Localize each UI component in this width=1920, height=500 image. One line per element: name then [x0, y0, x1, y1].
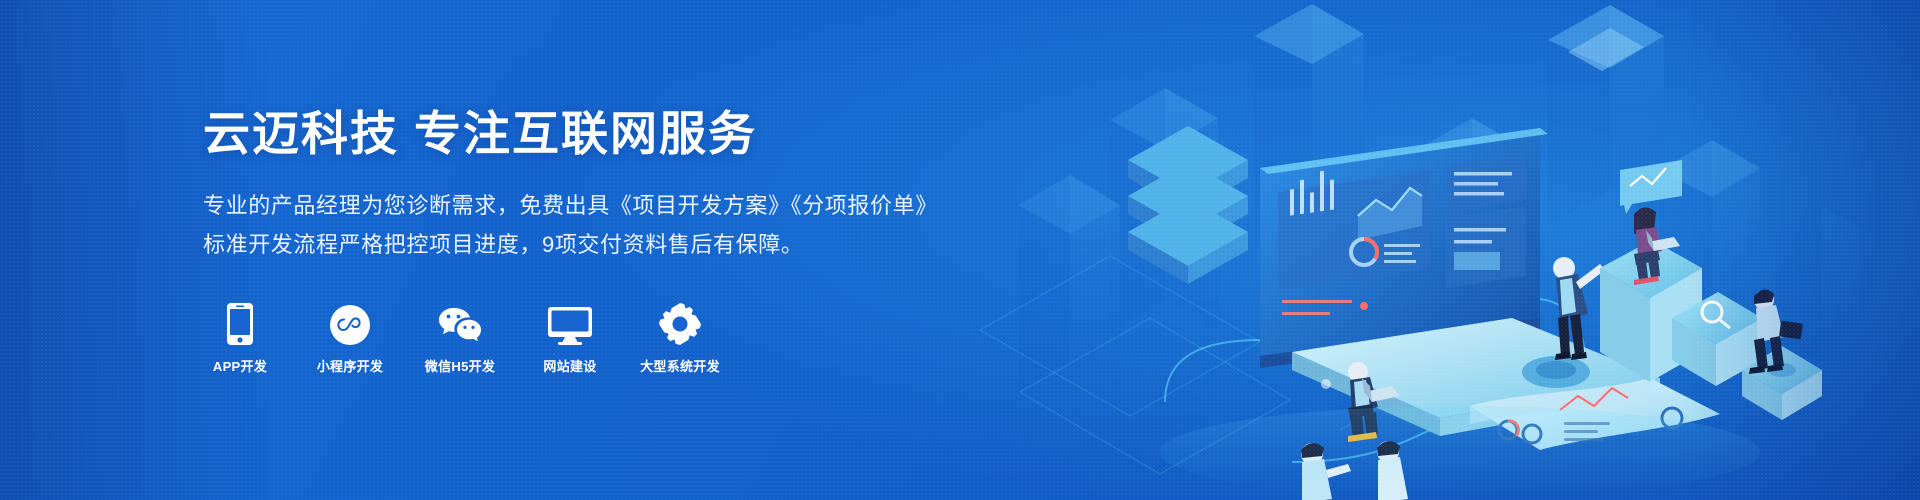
wechat-icon [437, 301, 483, 345]
service-item-wechat-h5[interactable]: 微信H5开发 [423, 301, 497, 375]
service-item-large-system[interactable]: 大型系统开发 [643, 301, 717, 375]
person-standing-pointing [1553, 257, 1605, 360]
mini-program-icon [330, 301, 370, 345]
service-label: 微信H5开发 [425, 356, 495, 375]
mobile-phone-icon [227, 301, 253, 345]
isometric-illustration [960, 0, 1860, 500]
service-label: 小程序开发 [317, 356, 384, 375]
subtitle-line-2: 标准开发流程严格把控项目进度，9项交付资料售后有保障。 [203, 226, 963, 264]
service-item-app[interactable]: APP开发 [203, 301, 277, 375]
service-item-website[interactable]: 网站建设 [533, 301, 607, 375]
service-item-mini-program[interactable]: 小程序开发 [313, 301, 387, 375]
banner-subtitle: 专业的产品经理为您诊断需求，免费出具《项目开发方案》《分项报价单》 标准开发流程… [203, 187, 963, 265]
desktop-monitor-icon [548, 301, 592, 345]
hero-banner: 云迈科技 专注互联网服务 专业的产品经理为您诊断需求，免费出具《项目开发方案》《… [0, 0, 1920, 500]
service-label: APP开发 [213, 356, 267, 375]
service-icon-row: APP开发 小程序开发 [203, 301, 963, 375]
subtitle-line-1: 专业的产品经理为您诊断需求，免费出具《项目开发方案》《分项报价单》 [203, 187, 963, 225]
gear-icon [659, 301, 701, 345]
banner-content: 云迈科技 专注互联网服务 专业的产品经理为您诊断需求，免费出具《项目开发方案》《… [203, 0, 963, 500]
service-label: 网站建设 [543, 356, 596, 375]
page-title: 云迈科技 专注互联网服务 [203, 107, 963, 161]
service-label: 大型系统开发 [640, 356, 720, 375]
